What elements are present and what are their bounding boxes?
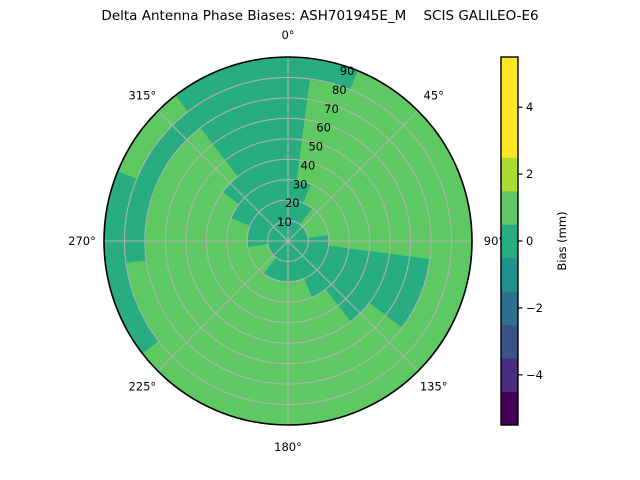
- radial-tick-label: 20: [285, 196, 300, 210]
- radial-tick-label: 30: [293, 177, 308, 191]
- colorbar-band: [501, 258, 518, 292]
- colorbar-band: [501, 124, 518, 158]
- colorbar-band: [501, 358, 518, 392]
- colorbar-tick-label: 0: [526, 234, 533, 248]
- radial-tick-label: 10: [277, 215, 292, 229]
- colorbar-tick-label: −4: [526, 368, 543, 382]
- angular-tick-label: 315°: [128, 88, 156, 102]
- colorbar-band: [501, 191, 518, 225]
- colorbar-band: [501, 90, 518, 124]
- polar-plot: 0°45°90°135°180°225°270°315° 10203040506…: [0, 0, 640, 480]
- angular-tick-label: 135°: [420, 380, 448, 394]
- colorbar-band: [501, 224, 518, 258]
- radial-tick-label: 60: [316, 121, 331, 135]
- colorbar-band: [501, 157, 518, 191]
- radial-tick-label: 90: [340, 64, 355, 78]
- radial-tick-label: 40: [301, 158, 316, 172]
- angular-tick-label: 0°: [281, 28, 294, 42]
- angular-tick-label: 45°: [424, 88, 444, 102]
- radial-tick-label: 80: [332, 83, 347, 97]
- colorbar-band: [501, 57, 518, 91]
- polar-grid: [104, 57, 472, 425]
- colorbar-band: [501, 291, 518, 325]
- colorbar-tick-label: −2: [526, 301, 543, 315]
- figure-canvas: Delta Antenna Phase Biases: ASH701945E_M…: [0, 0, 640, 480]
- angular-tick-label: 225°: [128, 380, 156, 394]
- radial-tick-label: 50: [308, 140, 323, 154]
- colorbar-bands: [501, 57, 518, 426]
- radial-tick-label: 70: [324, 102, 339, 116]
- colorbar-ticks: −4−2024: [518, 100, 543, 382]
- colorbar-tick-label: 4: [526, 100, 533, 114]
- angular-tick-label: 180°: [274, 440, 302, 454]
- colorbar: −4−2024 Bias (mm): [501, 57, 569, 426]
- colorbar-axis-label: Bias (mm): [555, 211, 569, 270]
- angular-tick-label: 270°: [68, 234, 96, 248]
- colorbar-band: [501, 392, 518, 426]
- colorbar-band: [501, 325, 518, 359]
- colorbar-tick-label: 2: [526, 167, 533, 181]
